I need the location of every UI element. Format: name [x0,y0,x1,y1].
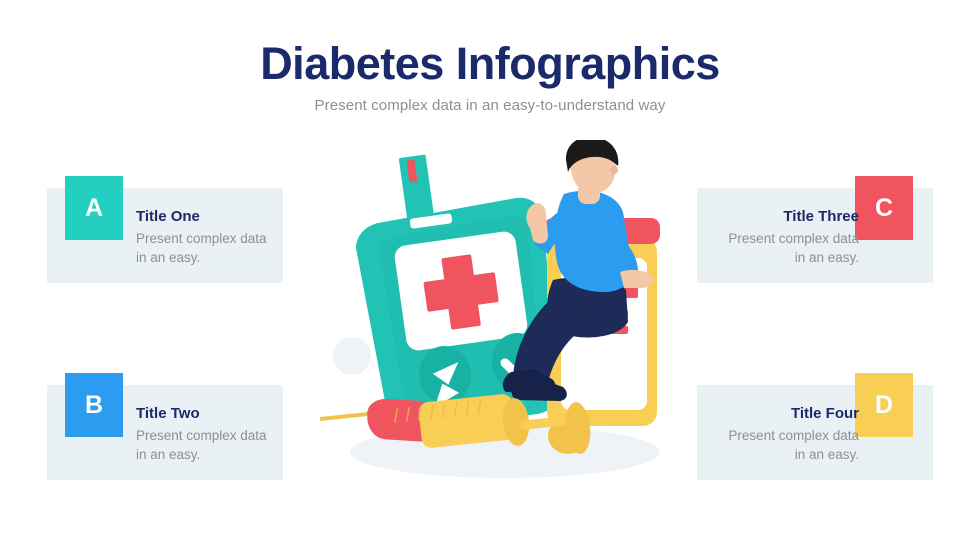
card-badge-letter-b: B [85,391,103,420]
card-badge-letter-d: D [875,391,893,420]
decor-circle-icon [333,337,371,375]
card-title-a: Title One [136,208,276,226]
card-text-d: Title Four Present complex data in an ea… [719,405,859,464]
card-badge-a: A [65,176,123,240]
info-card-a[interactable]: A Title One Present complex data in an e… [47,188,283,283]
card-text-c: Title Three Present complex data in an e… [719,208,859,267]
card-description-b: Present complex data in an easy. [136,427,276,464]
card-badge-d: D [855,373,913,437]
diabetes-illustration [320,140,680,500]
card-badge-c: C [855,176,913,240]
card-description-d: Present complex data in an easy. [719,427,859,464]
card-text-a: Title One Present complex data in an eas… [136,208,276,267]
page-title: Diabetes Infographics [0,38,980,90]
card-title-d: Title Four [719,405,859,423]
card-text-b: Title Two Present complex data in an eas… [136,405,276,464]
info-card-d[interactable]: D Title Four Present complex data in an … [697,385,933,480]
card-badge-b: B [65,373,123,437]
page-subtitle: Present complex data in an easy-to-under… [0,97,980,114]
slide-canvas: Diabetes Infographics Present complex da… [0,0,980,551]
card-description-c: Present complex data in an easy. [719,230,859,267]
info-card-b[interactable]: B Title Two Present complex data in an e… [47,385,283,480]
card-badge-letter-c: C [875,194,893,223]
card-badge-letter-a: A [85,194,103,223]
info-card-c[interactable]: C Title Three Present complex data in an… [697,188,933,283]
card-description-a: Present complex data in an easy. [136,230,276,267]
header: Diabetes Infographics Present complex da… [0,38,980,114]
card-title-b: Title Two [136,405,276,423]
card-title-c: Title Three [719,208,859,226]
